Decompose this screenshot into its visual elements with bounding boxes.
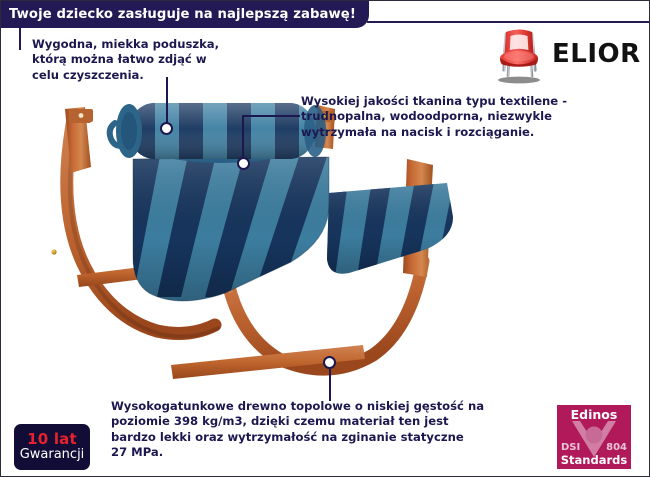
- callout-dot-fabric: [237, 157, 250, 170]
- product-image-hammock-rocker: [29, 97, 539, 397]
- leader-line-pillow: [166, 77, 168, 127]
- red-chair-icon: [493, 24, 545, 84]
- leader-line-fabric-horizontal: [242, 115, 300, 117]
- headline-text: Twoje dziecko zasługuje na najlepszą zab…: [9, 7, 356, 22]
- header-banner: Twoje dziecko zasługuje na najlepszą zab…: [0, 1, 369, 28]
- header-left-tick: [19, 28, 21, 50]
- brand-logo: ELIOR: [493, 23, 641, 85]
- annotation-wood-text: Wysokogatunkowe drewno topolowe o niskie…: [111, 399, 541, 461]
- edinos-code-right: 804: [606, 442, 627, 453]
- warranty-years: 10 lat: [27, 432, 77, 448]
- callout-dot-pillow: [160, 122, 173, 135]
- annotation-pillow-text: Wygodna, miekka poduszka, którą można ła…: [32, 37, 282, 83]
- warranty-badge: 10 lat Gwarancji: [14, 424, 90, 470]
- annotation-fabric-text: Wysokiej jakości tkanina typu textilene …: [301, 94, 641, 140]
- callout-dot-wood: [323, 356, 336, 369]
- edinos-code-left: DSI: [561, 442, 580, 453]
- warranty-label: Gwarancji: [20, 448, 85, 462]
- product-infographic: Twoje dziecko zasługuje na najlepszą zab…: [0, 0, 650, 477]
- brand-name: ELIOR: [552, 41, 641, 67]
- edinos-label: Standards: [557, 453, 631, 467]
- edinos-standards-badge: Edinos DSI 804 Standards: [557, 405, 631, 469]
- leader-line-fabric-vertical: [242, 115, 244, 161]
